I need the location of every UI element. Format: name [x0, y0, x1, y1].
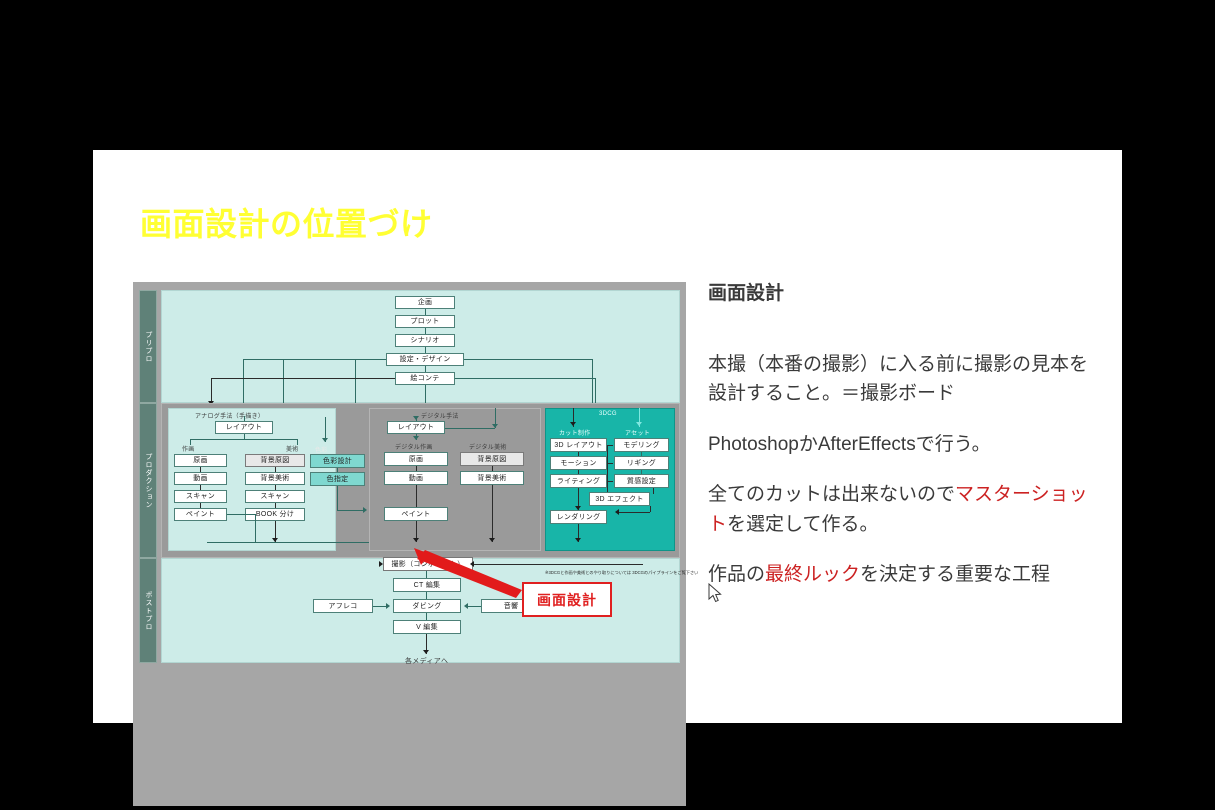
node-3d-effect: 3D エフェクト: [589, 492, 650, 506]
node-ekonte: 絵コンテ: [395, 372, 455, 385]
node-settei-design: 設定・デザイン: [386, 353, 464, 366]
label-digital-method: デジタル手法: [421, 411, 459, 420]
node-kikaku: 企画: [395, 296, 455, 309]
node-analog-paint: ペイント: [174, 508, 227, 521]
page-title: 画面設計の位置づけ: [140, 208, 433, 240]
node-analog-scan: スキャン: [174, 490, 227, 503]
label-each-media: 各メディアへ: [405, 656, 448, 666]
label-asset: アセット: [625, 428, 650, 437]
node-scenario: シナリオ: [395, 334, 455, 347]
node-3d-layout: 3D レイアウト: [550, 438, 607, 452]
node-digital-haikei-bijutsu: 背景美術: [460, 471, 524, 485]
band-label-production: プロダクション: [139, 403, 157, 558]
label-shikisai: 色彩: [315, 445, 328, 454]
node-analog-haikei-bijutsu: 背景美術: [245, 472, 305, 485]
node-shikisai-sekkei: 色彩設計: [310, 454, 365, 468]
node-v-editing: V 編集: [393, 620, 461, 634]
paragraph-4-highlight: 最終ルック: [765, 564, 860, 585]
node-analog-scan-b: スキャン: [245, 490, 305, 503]
node-satsuei-composite: 撮影（コンポジット）: [383, 557, 473, 571]
paragraph-1-text: 本撮（本番の撮影）に入る前に撮影の見本を設計すること。＝撮影ボード: [708, 354, 1088, 404]
node-plot: プロット: [395, 315, 455, 328]
node-digital-paint: ペイント: [384, 507, 448, 521]
node-analog-genga: 原画: [174, 454, 227, 467]
label-digital-bijutsu: デジタル美術: [469, 442, 507, 451]
node-digital-genga: 原画: [384, 452, 448, 466]
node-shitsukan-settei: 質感設定: [614, 474, 669, 488]
node-digital-haikei-genzu: 背景原図: [460, 452, 524, 466]
paragraph-3-text-b: を選定して作る。: [727, 514, 878, 535]
paragraph-3: 全てのカットは出来ないのでマスターショットを選定して作る。: [708, 480, 1088, 539]
paragraph-4-text-b: を決定する重要な工程: [860, 564, 1050, 585]
node-analog-haikei-genzu: 背景原図: [245, 454, 305, 467]
paragraph-2-text: PhotoshopかAfterEffectsで行う。: [708, 434, 991, 455]
node-digital-douga: 動画: [384, 471, 448, 485]
node-digital-layout: レイアウト: [387, 421, 445, 434]
label-sakuga: 作画: [182, 444, 195, 453]
band-label-pre: プリプロ: [139, 290, 157, 403]
node-modeling: モデリング: [614, 438, 669, 452]
node-motion: モーション: [550, 456, 607, 470]
paragraph-2: PhotoshopかAfterEffectsで行う。: [708, 430, 1088, 459]
explanation-column: 画面設計 本撮（本番の撮影）に入る前に撮影の見本を設計すること。＝撮影ボード P…: [708, 283, 1088, 610]
band-label-post: ポストプロ: [139, 558, 157, 663]
paragraph-4: 作品の最終ルックを決定する重要な工程: [708, 560, 1088, 589]
callout-gamen-sekkei: 画面設計: [522, 582, 612, 617]
label-cut-seisaku: カット制作: [559, 428, 591, 437]
explanation-heading: 画面設計: [708, 283, 1088, 306]
paragraph-3-text-a: 全てのカットは出来ないので: [708, 484, 955, 505]
footnote-3dcg: ※3DCGと作画や美術とのやり取りについては 3DCGのパイプラインをご覧下さい: [545, 570, 675, 576]
screen: 画面設計の位置づけ 画面設計 本撮（本番の撮影）に入る前に撮影の見本を設計するこ…: [0, 0, 1215, 810]
label-analog-method: アナログ手法（手描き）: [195, 411, 264, 420]
node-rendering: レンダリング: [550, 510, 607, 524]
node-ct-editing: CT 編集: [393, 578, 461, 592]
node-dubbing: ダビング: [393, 599, 461, 613]
label-digital-sakuga: デジタル作画: [395, 442, 433, 451]
label-3dcg: 3DCG: [599, 411, 617, 417]
paragraph-4-text-a: 作品の: [708, 564, 765, 585]
node-analog-layout: レイアウト: [215, 421, 273, 434]
node-analog-douga: 動画: [174, 472, 227, 485]
label-bijutsu: 美術: [286, 444, 299, 453]
paragraph-1: 本撮（本番の撮影）に入る前に撮影の見本を設計すること。＝撮影ボード: [708, 350, 1088, 409]
node-afureco: アフレコ: [313, 599, 373, 613]
node-rigging: リギング: [614, 456, 669, 470]
production-pipeline-diagram: プリプロ 企画 プロット シナリオ 設定・デザイン 絵コンテ: [133, 282, 686, 806]
node-lighting: ライティング: [550, 474, 607, 488]
node-shikishitei: 色指定: [310, 472, 365, 486]
presentation-slide: 画面設計の位置づけ 画面設計 本撮（本番の撮影）に入る前に撮影の見本を設計するこ…: [93, 150, 1122, 723]
